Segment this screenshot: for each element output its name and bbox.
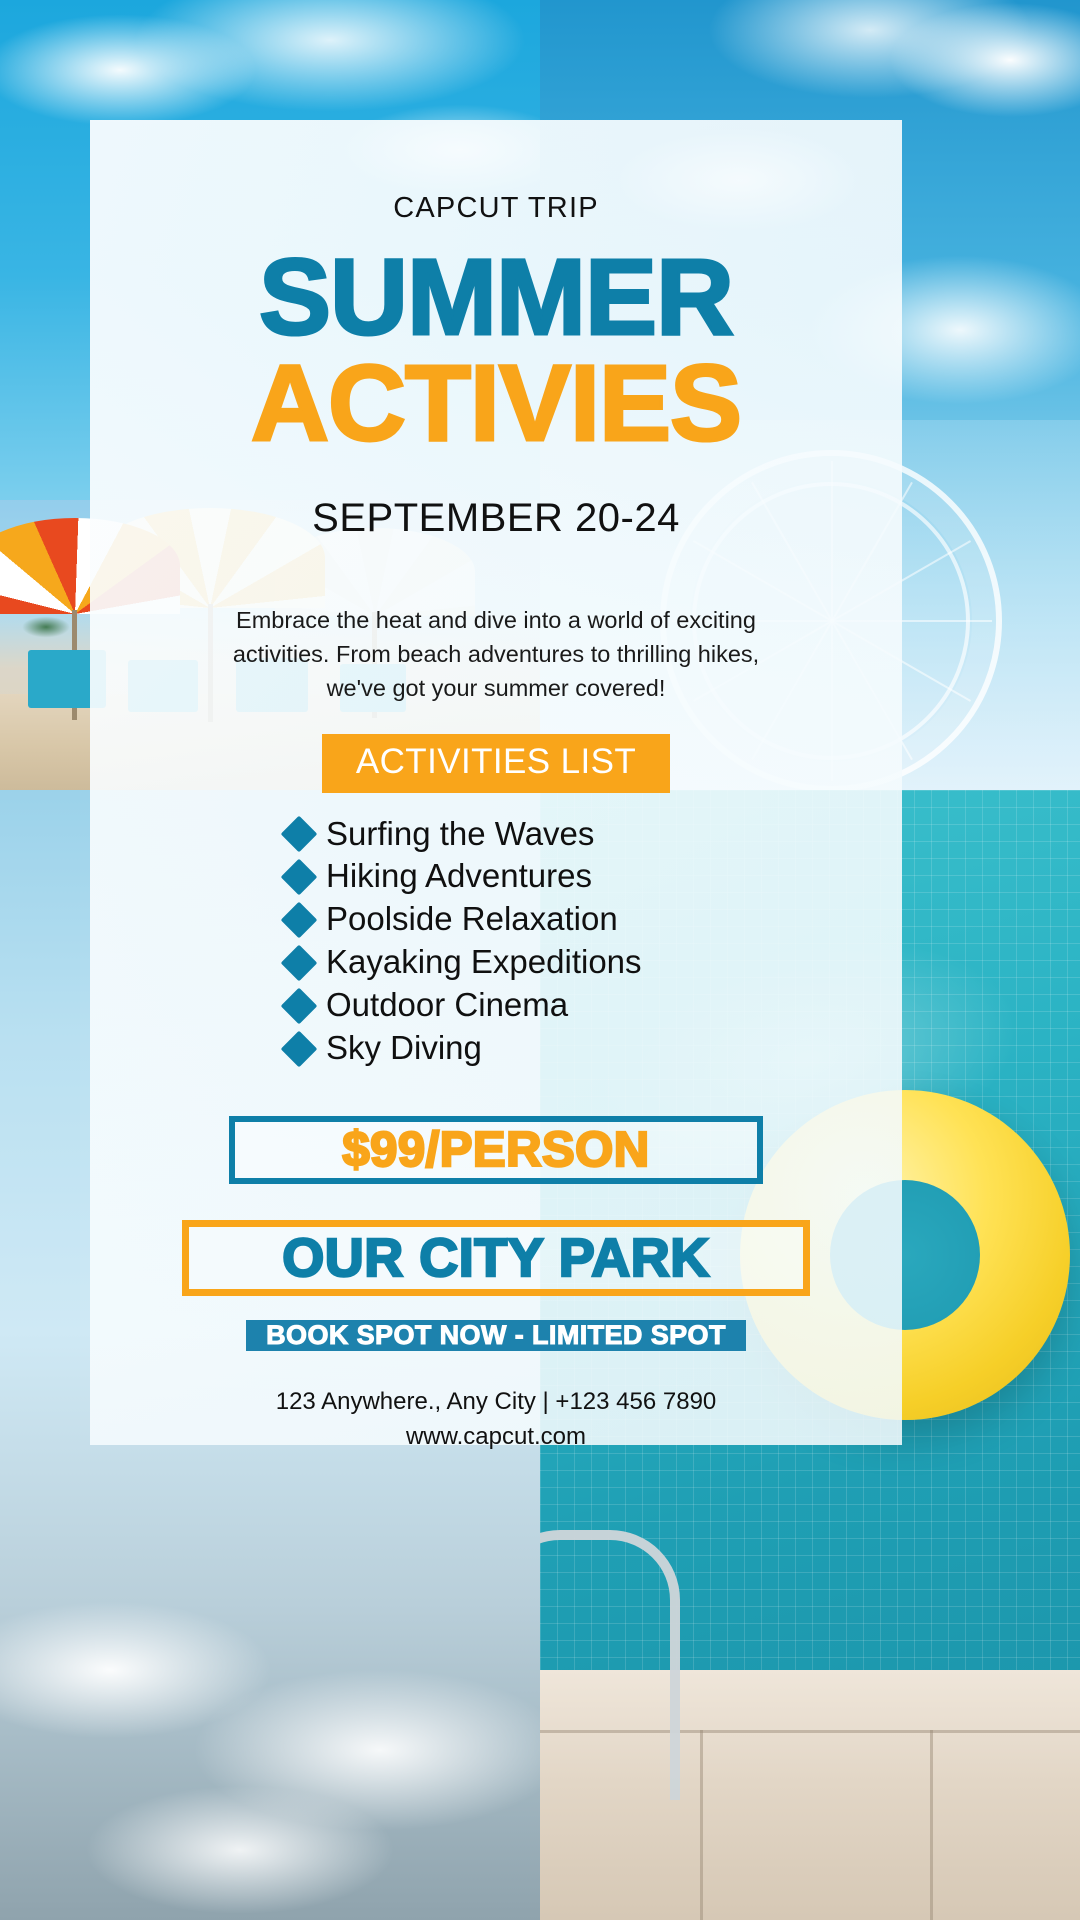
diamond-icon <box>281 901 318 938</box>
activities-list: Surfing the Waves Hiking Adventures Pool… <box>286 815 706 1073</box>
poster-content-card: CAPCUT TRIP SUMMER ACTIVIES SEPTEMBER 20… <box>90 120 902 1445</box>
pool-ladder <box>540 1530 680 1800</box>
price-box: $99/PERSON <box>229 1116 763 1184</box>
diamond-icon <box>281 859 318 896</box>
activity-label: Outdoor Cinema <box>326 986 568 1025</box>
diamond-icon <box>281 1030 318 1067</box>
footer-contact: 123 Anywhere., Any City | +123 456 7890 <box>276 1385 717 1420</box>
poster-title-line-2: ACTIVIES <box>251 351 741 455</box>
venue-box: OUR CITY PARK <box>182 1220 810 1296</box>
activities-list-banner: ACTIVITIES LIST <box>322 734 670 793</box>
list-item: Sky Diving <box>286 1029 706 1068</box>
list-item: Poolside Relaxation <box>286 900 706 939</box>
activity-label: Poolside Relaxation <box>326 900 618 939</box>
activity-label: Sky Diving <box>326 1029 482 1068</box>
book-spot-label: BOOK SPOT NOW - LIMITED SPOT <box>266 1320 726 1351</box>
list-item: Outdoor Cinema <box>286 986 706 1025</box>
activity-label: Hiking Adventures <box>326 857 592 896</box>
poster-description: Embrace the heat and dive into a world o… <box>206 603 786 705</box>
poster-dates: SEPTEMBER 20-24 <box>312 496 680 541</box>
book-spot-button[interactable]: BOOK SPOT NOW - LIMITED SPOT <box>246 1320 746 1351</box>
footer-website: www.capcut.com <box>276 1420 717 1455</box>
activity-label: Surfing the Waves <box>326 815 594 854</box>
diamond-icon <box>281 816 318 853</box>
list-item: Hiking Adventures <box>286 857 706 896</box>
list-item: Surfing the Waves <box>286 815 706 854</box>
poster-title-line-1: SUMMER <box>259 245 733 349</box>
palm-foliage <box>16 596 76 658</box>
diamond-icon <box>281 944 318 981</box>
activity-label: Kayaking Expeditions <box>326 943 642 982</box>
list-item: Kayaking Expeditions <box>286 943 706 982</box>
poster-kicker: CAPCUT TRIP <box>393 192 599 225</box>
poster-footer: 123 Anywhere., Any City | +123 456 7890 … <box>276 1385 717 1455</box>
venue-text: OUR CITY PARK <box>282 1227 710 1289</box>
diamond-icon <box>281 987 318 1024</box>
price-text: $99/PERSON <box>342 1122 649 1178</box>
